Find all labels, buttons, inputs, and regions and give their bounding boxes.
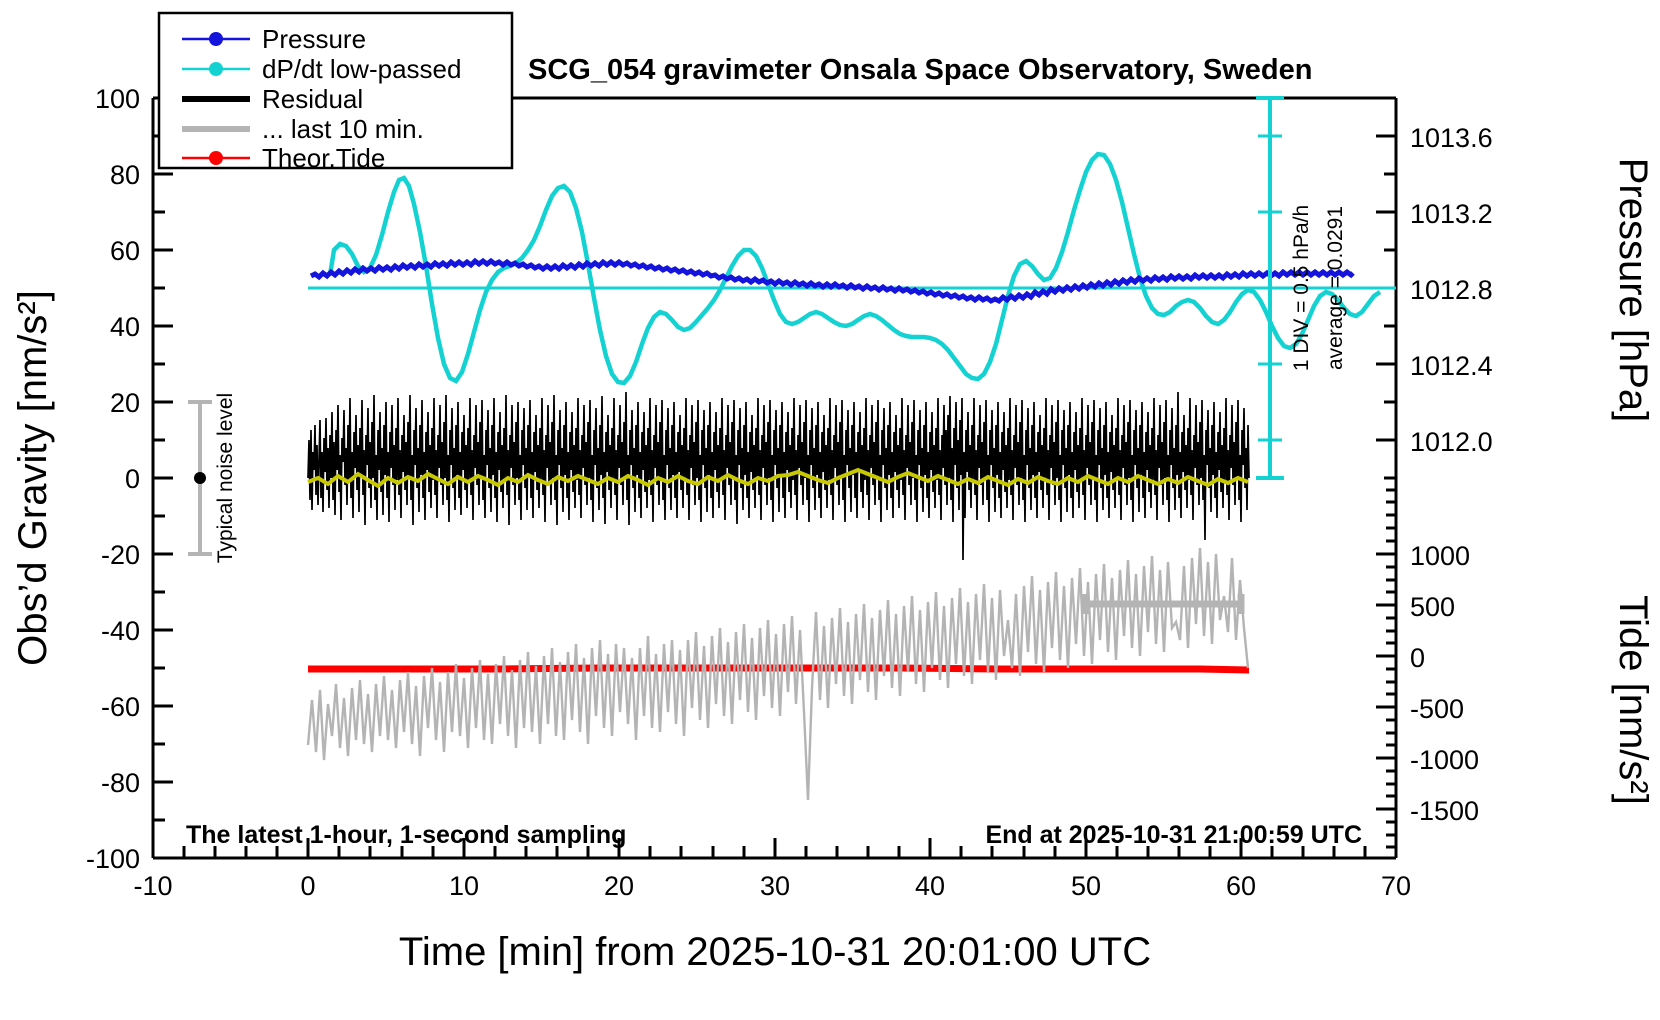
- legend-label-residual: Residual: [262, 84, 363, 114]
- ytick-pressure-2: 1012.8: [1410, 275, 1493, 305]
- footer-right-text: End at 2025-10-31 21:00:59 UTC: [985, 821, 1362, 849]
- legend-label-last-10-min: ... last 10 min.: [262, 114, 424, 144]
- y-axis-tide-label: Tide [nm/s²]: [1611, 595, 1655, 805]
- ytick-left-7: -40: [101, 616, 140, 646]
- ytick-left-0: 100: [95, 84, 140, 114]
- ytick-tide-3: -500: [1410, 694, 1464, 724]
- xtick-2: 10: [449, 871, 479, 901]
- legend-label-theor-tide: Theor.Tide: [262, 143, 385, 173]
- gravimeter-plot: 100 80 60 40 20 0 -20 -40 -60 -80 -100: [0, 0, 1660, 1020]
- footer-left-text: The latest 1-hour, 1-second sampling: [186, 821, 626, 849]
- ytick-left-9: -80: [101, 768, 140, 798]
- xtick-3: 20: [604, 871, 634, 901]
- xtick-6: 50: [1071, 871, 1101, 901]
- ytick-left-1: 80: [110, 160, 140, 190]
- ytick-tide-5: -1500: [1410, 796, 1479, 826]
- legend[interactable]: Pressure dP/dt low-passed Residual ... l…: [159, 13, 512, 173]
- ytick-pressure-4: 1012.0: [1410, 427, 1493, 457]
- ytick-pressure-0: 1013.6: [1410, 123, 1493, 153]
- ytick-pressure-1: 1013.2: [1410, 199, 1493, 229]
- ytick-tide-1: 500: [1410, 592, 1455, 622]
- xtick-5: 40: [915, 871, 945, 901]
- ytick-left-4: 20: [110, 388, 140, 418]
- page-title: SCG_054 gravimeter Onsala Space Observat…: [528, 54, 1312, 86]
- dpdt-div-label: 1 DIV = 0.5 hPa/h: [1290, 205, 1313, 371]
- ytick-left-3: 40: [110, 312, 140, 342]
- ytick-left-6: -20: [101, 540, 140, 570]
- typical-noise-level-label: Typical noise level: [214, 393, 237, 563]
- ytick-left-10: -100: [86, 844, 140, 874]
- ytick-left-2: 60: [110, 236, 140, 266]
- legend-label-pressure: Pressure: [262, 24, 366, 54]
- dpdt-average-label: average = 0.0291: [1324, 206, 1347, 370]
- legend-swatch-dot: [209, 151, 223, 165]
- ytick-tide-0: 1000: [1410, 541, 1470, 571]
- xtick-0: -10: [133, 871, 172, 901]
- legend-swatch-dot: [209, 32, 223, 46]
- x-axis-label: Time [min] from 2025-10-31 20:01:00 UTC: [399, 930, 1151, 974]
- xtick-1: 0: [300, 871, 315, 901]
- xtick-7: 60: [1226, 871, 1256, 901]
- xtick-8: 70: [1381, 871, 1411, 901]
- legend-swatch-dot: [209, 62, 223, 76]
- y-axis-left-label: Obs’d Gravity [nm/s²]: [11, 290, 55, 666]
- legend-label-dpdt: dP/dt low-passed: [262, 54, 461, 84]
- ytick-left-5: 0: [125, 464, 140, 494]
- xtick-4: 30: [760, 871, 790, 901]
- y-axis-pressure-label: Pressure [hPa]: [1611, 158, 1655, 423]
- ytick-left-8: -60: [101, 692, 140, 722]
- ytick-tide-4: -1000: [1410, 745, 1479, 775]
- ytick-tide-2: 0: [1410, 643, 1425, 673]
- figure-root: 100 80 60 40 20 0 -20 -40 -60 -80 -100: [0, 0, 1660, 1020]
- ytick-pressure-3: 1012.4: [1410, 351, 1493, 381]
